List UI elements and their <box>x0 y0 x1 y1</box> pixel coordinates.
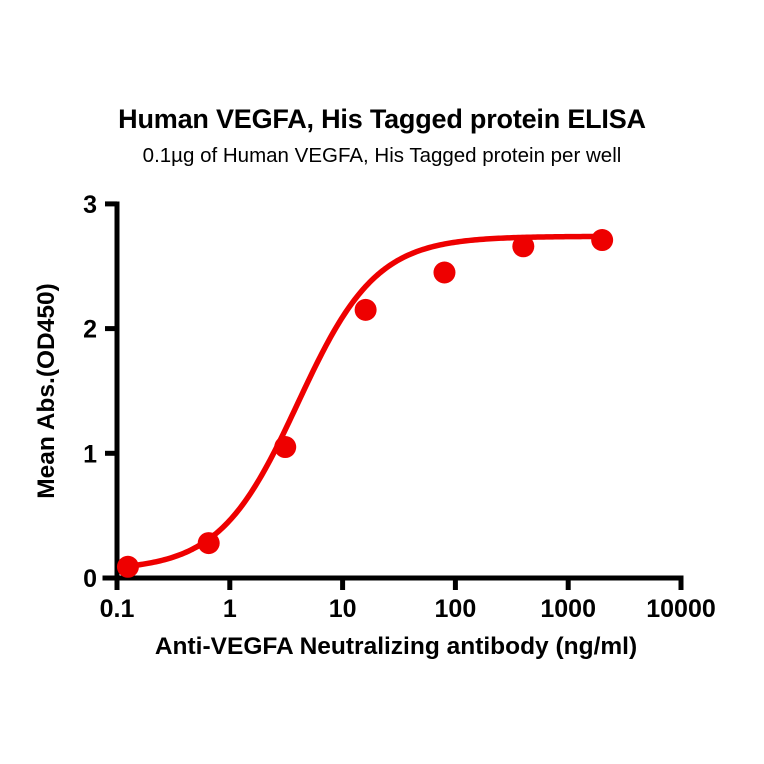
data-point <box>198 532 220 554</box>
plot-area: 0123 0.1110100100010000 Anti-VEGFA Neutr… <box>0 0 764 764</box>
sigmoid-fit-curve <box>128 236 602 566</box>
x-tick-label: 10 <box>329 595 357 623</box>
x-tick-label: 1 <box>223 595 237 623</box>
x-tick-label: 100 <box>435 595 477 623</box>
data-point <box>433 261 455 283</box>
data-point <box>117 556 139 578</box>
x-axis: 0.1110100100010000 <box>100 578 716 623</box>
data-point <box>274 436 296 458</box>
y-tick-group: 0123 <box>83 191 117 593</box>
elisa-chart-figure: Human VEGFA, His Tagged protein ELISA 0.… <box>0 0 764 764</box>
y-tick-label: 0 <box>83 565 97 593</box>
x-tick-label: 1000 <box>540 595 596 623</box>
y-tick-label: 2 <box>83 316 97 344</box>
data-point <box>591 229 613 251</box>
x-tick-group: 0.1110100100010000 <box>100 578 716 623</box>
data-point <box>355 299 377 321</box>
data-point <box>512 235 534 257</box>
x-tick-label: 0.1 <box>100 595 135 623</box>
y-axis: 0123 <box>83 191 117 593</box>
data-series-group <box>117 229 613 578</box>
y-tick-label: 3 <box>83 191 97 219</box>
y-axis-title: Mean Abs.(OD450) <box>33 283 60 499</box>
data-point-group <box>117 229 613 578</box>
y-tick-label: 1 <box>83 440 97 468</box>
x-axis-title: Anti-VEGFA Neutralizing antibody (ng/ml) <box>155 633 637 660</box>
x-tick-label: 10000 <box>646 595 716 623</box>
